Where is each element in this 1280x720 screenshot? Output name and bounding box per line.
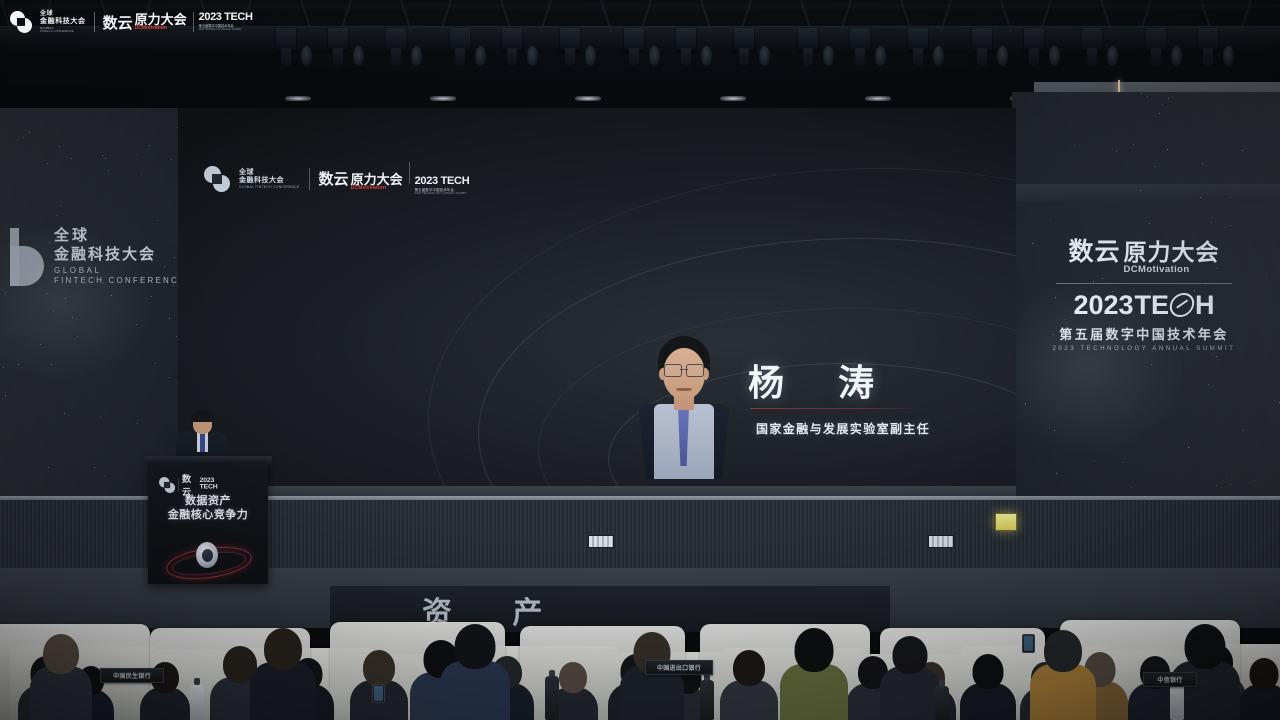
wall-star [1123,462,1124,463]
exit-sign-icon [995,513,1017,531]
wall-star [1054,430,1055,431]
stage-light-lens [1107,46,1118,66]
stage-light [1198,28,1218,50]
stage-light-lens [823,46,834,66]
watermark-en2: FINTECH CONFERENCE [40,31,86,34]
wall-star [1230,197,1231,198]
light-beam-glow [865,96,891,101]
screen-yuanli-en: DCMotivation [351,186,403,191]
wall-star [155,363,156,364]
broadcast-watermark: 全球 金融科技大会 GLOBAL FINTECH CONFERENCE 数云 原… [10,6,253,38]
wall-star [5,392,6,393]
right-wall-summit-cn: 第五届数字中国技术年会 [1016,324,1272,343]
wall-vent-right [928,535,954,548]
wall-star [171,159,172,160]
screen-year-big: 2023 TECH [415,176,470,187]
stage-light [450,28,470,50]
stage-light-lens [933,46,944,66]
seat-name-placard: 中国民生银行 [100,668,164,683]
left-wall-cn-line2: 金融科技大会 [54,247,187,263]
stage-light-lens [1171,46,1182,66]
wall-star [29,132,30,133]
wall-star [105,158,106,159]
audience-head [363,650,395,686]
wall-star [1094,460,1095,461]
audience-body [720,680,778,720]
watermark-cn1: 全球 [40,11,86,17]
wall-star [5,292,6,293]
audience-member-front [780,628,848,720]
wall-star [1133,144,1134,145]
wall-star [94,467,95,468]
stage-light-lens [1223,46,1234,66]
watermark-gfc-mark-icon [10,11,32,33]
left-wall-cn-line1: 全球 [54,228,187,244]
smartphone [1022,634,1035,653]
watermark-year-big: 2023 TECH [199,12,253,23]
wall-star [46,293,47,294]
watermark-cn2: 金融科技大会 [40,18,86,25]
gfc-mark-icon [204,166,230,192]
screen-gfc-en: GLOBAL FINTECH CONFERENCE [239,186,300,189]
wall-star [1167,149,1168,150]
water-bottle [935,686,949,720]
wall-star [157,220,158,221]
speaker-title: 国家金融与发展实验室副主任 [756,420,930,437]
wall-star [5,395,6,396]
wall-star [1050,219,1051,220]
watermark-divider [94,12,95,32]
screen-shuyun-logo: 数云 原力大会 DCMotivation 2023 TECH 第五届数字中国技术… [319,162,470,196]
wall-star [169,377,170,378]
speaker-name-rule [750,408,920,409]
wall-star [1202,163,1203,164]
wall-star [72,317,73,318]
audience-head [1185,624,1226,669]
wall-star [151,296,152,297]
wall-star [77,336,78,337]
watermark-year-en: 2023 TECHNOLOGY ANNUAL SUMMIT [199,29,253,31]
stage-light-lens [875,46,886,66]
water-bottle [190,684,204,720]
wall-star [1155,166,1156,167]
speaker-name: 杨 涛 [748,354,896,406]
right-wall-top-edge [1012,184,1280,202]
wall-star [1217,118,1218,119]
water-bottle [700,680,714,720]
wall-star [1025,403,1026,404]
wall-star [1200,197,1201,198]
at-circle-icon [1168,293,1196,317]
stage-light-lens [1049,46,1060,66]
wall-vent-left [588,535,614,548]
gfc-logo-mark-icon [10,228,44,286]
audience-head [795,628,834,672]
stage-light [676,28,696,50]
seat-name-placard: 中国进出口银行 [645,660,713,675]
audience-head [1250,658,1279,690]
seat-name-placard: 中信银行 [1143,672,1197,687]
audience-head [43,634,79,674]
light-beam-glow [575,96,601,101]
wall-star [102,155,103,156]
audience-body [1030,664,1096,720]
audience-area [0,556,1280,720]
wall-star [1131,487,1132,488]
audience-head [1044,630,1082,672]
wall-star [169,318,170,319]
wall-star [1151,364,1152,365]
wall-star [1099,406,1100,407]
light-beam-glow [720,96,746,101]
light-beam-glow [430,96,456,101]
wall-star [47,163,48,164]
main-led-screen: 全球 金融科技大会 GLOBAL FINTECH CONFERENCE 数云 原… [178,108,1016,486]
right-wall-tech-post: H [1195,290,1215,321]
screen-shuyun-cn: 数云 [319,168,349,189]
right-wall-yuanli: 原力大会 [1124,241,1220,264]
audience-head [893,636,928,674]
stage-light [972,28,992,50]
stage-light [1082,28,1102,50]
stage-light [328,28,348,50]
audience-member-front [250,628,316,720]
audience-member [960,654,1016,720]
wall-star [136,324,137,325]
wall-star [1147,96,1148,97]
wall-star [149,145,150,146]
wall-star [137,423,138,424]
light-beam-glow [285,96,311,101]
wall-star [1159,113,1160,114]
wall-star [51,364,52,365]
watermark-shuyun: 数云 [103,12,133,33]
wall-star [1242,150,1243,151]
wall-star [60,205,61,206]
right-wall-summit-en: 2023 TECHNOLOGY ANNUAL SUMMIT [1016,346,1272,352]
audience-head [264,628,302,670]
wall-star [1074,145,1075,146]
audience-member-front [880,636,940,720]
wall-star [1230,484,1231,485]
audience-head [455,624,496,669]
right-wall-year: 2023 [1073,290,1133,321]
podium-title-line1: 数据资产 [148,494,268,508]
wall-star [105,475,106,476]
wall-star [1230,225,1231,226]
stage-light [276,28,296,50]
audience-member-front [440,624,510,720]
wall-star [23,137,24,138]
wall-star [1140,190,1141,191]
wall-star [57,215,58,216]
stage-light [850,28,870,50]
wall-star [137,154,138,155]
stage-light [1146,28,1166,50]
wall-star [59,146,60,147]
wall-star [141,174,142,175]
stage-light [502,28,522,50]
wall-star [111,295,112,296]
audience-member-front [30,634,92,720]
wall-star [1212,354,1213,355]
audience-member [720,650,778,720]
stage-light [734,28,754,50]
wall-star [1216,356,1217,357]
stage-light-lens [301,46,312,66]
watermark-yuanli-en: DCMotivation [135,26,187,31]
wall-star [1216,485,1217,486]
stage-light-lens [649,46,660,66]
screen-logo-lockup: 全球 金融科技大会 GLOBAL FINTECH CONFERENCE 数云 原… [204,162,469,196]
screen-logo-divider-2 [409,162,410,184]
wall-star [176,336,177,337]
audience-body [780,664,848,720]
wall-star [100,417,101,418]
left-wall-branding: 全球 金融科技大会 GLOBAL FINTECH CONFERENCE [10,228,187,286]
wall-star [1149,223,1150,224]
wall-star [1116,151,1117,152]
wall-star [65,298,66,299]
wall-star [53,311,54,312]
audience-body [880,666,940,720]
stage-light [908,28,928,50]
right-wall-branding: 数云 原力大会 DCMotivation 2023 TE H 第五届数字中国技术… [1016,232,1272,352]
audience-head [559,662,587,693]
water-bottle [545,676,559,720]
left-wall-en-line2: FINTECH CONFERENCE [54,277,187,285]
stage-light [624,28,644,50]
audience-body [30,666,92,720]
stage-light-lens [475,46,486,66]
wall-star [64,413,65,414]
smartphone [372,684,385,703]
stage-light-lens [527,46,538,66]
conference-stage-photo: 全球 金融科技大会 GLOBAL FINTECH CONFERENCE 数云 原… [0,0,1280,720]
left-wall-en-line1: GLOBAL [54,267,187,275]
wall-star [40,344,41,345]
audience-member-front [620,632,684,720]
right-wall-tech-pre: TE [1135,290,1170,321]
podium-gfc-mark-icon [159,477,175,493]
wall-star [1211,222,1212,223]
wall-star [3,367,4,368]
wall-star [1188,447,1189,448]
wall-star [3,289,4,290]
audience-body [440,661,510,720]
stage-light-lens [997,46,1008,66]
stage-light [560,28,580,50]
stage-light-lens [353,46,364,66]
wall-star [1056,473,1057,474]
audience-head [733,650,765,686]
right-wall-shuyun: 数云 [1068,232,1120,268]
screen-year-en: 2023 TECHNOLOGY ANNUAL SUMMIT [415,193,470,196]
podium-title-line2: 金融核心竞争力 [148,508,268,522]
stage-light [798,28,818,50]
screen-gfc-cn1: 全球 [239,169,300,176]
wall-star [18,364,19,365]
stage-light-lens [411,46,422,66]
audience-member [1238,658,1280,720]
wall-star [1254,480,1255,481]
speaker-portrait [638,334,730,479]
stage-light [386,28,406,50]
wall-star [71,158,72,159]
wall-star [1162,104,1163,105]
stage-light-lens [585,46,596,66]
glasses-icon [664,364,704,375]
wall-star [48,467,49,468]
stage-light-lens [759,46,770,66]
wall-star [1208,384,1209,385]
screen-logo-divider [309,168,310,190]
right-wall-yuanli-en: DCMotivation [1124,265,1190,275]
stage-light-lens [701,46,712,66]
screen-gfc-cn2: 金融科技大会 [239,177,300,184]
wall-star [1141,93,1142,94]
stage-light [1024,28,1044,50]
right-wall-divider [1056,283,1232,284]
podium-year: 2023 TECH [200,477,227,491]
audience-head [973,654,1004,689]
wall-star [1226,476,1227,477]
wall-star [1168,98,1169,99]
audience-body [250,662,316,720]
wall-star [108,170,109,171]
wall-star [176,382,177,383]
wall-star [1243,430,1244,431]
audience-member-front [1030,630,1096,720]
